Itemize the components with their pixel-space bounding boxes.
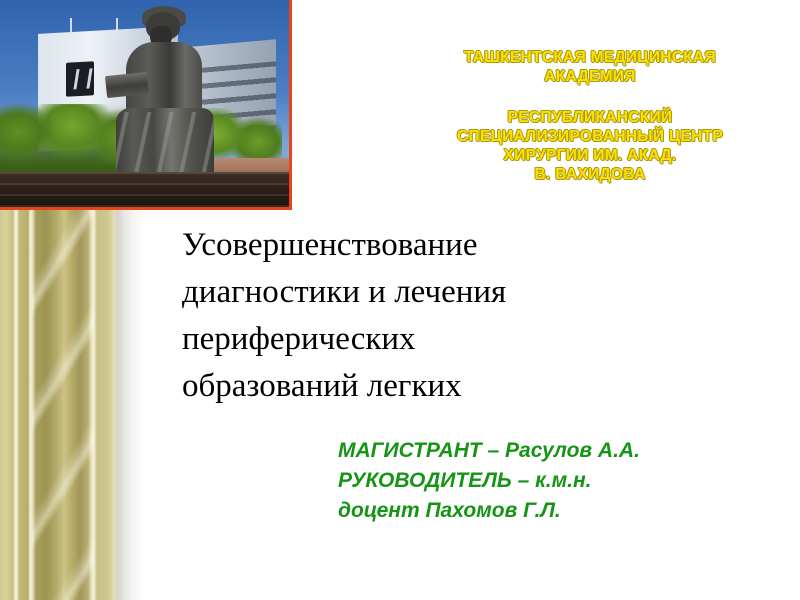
presenter-credits: МАГИСТРАНТ – Расулов А.А. РУКОВОДИТЕЛЬ –…	[338, 436, 778, 526]
page-title: Усовершенствование диагностики и лечения…	[182, 222, 652, 410]
header-center-line-1: РЕСПУБЛИКАНСКИЙ	[392, 108, 788, 127]
presenter-supervisor-name-line: доцент Пахомов Г.Л.	[338, 496, 778, 526]
presenter-student-line: МАГИСТРАНТ – Расулов А.А.	[338, 436, 778, 466]
header-center-line-2: СПЕЦИАЛИЗИРОВАННЫЙ ЦЕНТР	[392, 127, 788, 146]
photo-building-emblem	[66, 61, 94, 97]
header-academy-line-1: ТАШКЕНТСКАЯ МЕДИЦИНСКАЯ	[392, 48, 788, 67]
institution-academy-name: ТАШКЕНТСКАЯ МЕДИЦИНСКАЯ АКАДЕМИЯ	[392, 48, 788, 86]
institution-header: ТАШКЕНТСКАЯ МЕДИЦИНСКАЯ АКАДЕМИЯ РЕСПУБЛ…	[392, 48, 788, 184]
title-line-2: диагностики и лечения	[182, 269, 652, 316]
presenter-supervisor-line: РУКОВОДИТЕЛЬ – к.м.н.	[338, 466, 778, 496]
title-line-4: образований легких	[182, 363, 652, 410]
title-line-3: периферических	[182, 316, 652, 363]
photo-statue	[120, 12, 216, 178]
title-photo	[0, 0, 292, 210]
statue-book	[105, 72, 149, 98]
title-line-1: Усовершенствование	[182, 222, 652, 269]
photo-steps	[0, 172, 292, 210]
institution-center-name: РЕСПУБЛИКАНСКИЙ СПЕЦИАЛИЗИРОВАННЫЙ ЦЕНТР…	[392, 108, 788, 184]
statue-robe-folds	[116, 112, 214, 180]
header-academy-line-2: АКАДЕМИЯ	[392, 67, 788, 86]
header-center-line-3: ХИРУРГИИ ИМ. АКАД.	[392, 146, 788, 165]
presentation-slide: ТАШКЕНТСКАЯ МЕДИЦИНСКАЯ АКАДЕМИЯ РЕСПУБЛ…	[0, 0, 800, 600]
header-center-line-4: В. ВАХИДОВА	[392, 165, 788, 184]
